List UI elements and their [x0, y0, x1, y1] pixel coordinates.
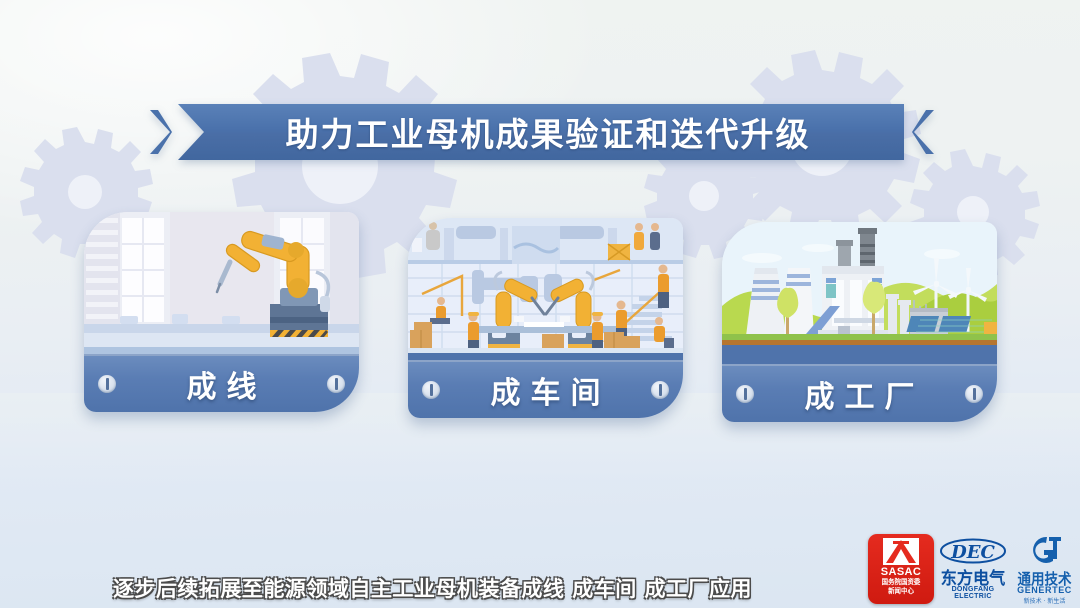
robot-arm-production-line-illustration: [84, 212, 359, 360]
sasac-cn-line2: 新闻中心: [888, 587, 914, 596]
slide-canvas: 助力工业母机成果验证和迭代升级: [0, 0, 1080, 608]
card-label-cheng-xian: 成线: [84, 354, 359, 412]
logo-bar: SASAC 国务院国资委 新闻中心 DEC 东方电气 DONGFANG ELEC…: [865, 530, 1080, 608]
card-label-text: 成车间: [481, 368, 611, 412]
svg-text:DEC: DEC: [950, 542, 995, 563]
card-cheng-che-jian[interactable]: 成车间: [408, 218, 683, 418]
dec-logo: DEC 东方电气 DONGFANG ELECTRIC: [937, 530, 1009, 608]
title-banner: 助力工业母机成果验证和迭代升级: [178, 104, 904, 160]
dec-ellipse-icon: DEC: [939, 538, 1007, 564]
card-label-cheng-gong-chang: 成工厂: [722, 364, 997, 422]
card-cheng-gong-chang[interactable]: 成工厂: [722, 222, 997, 422]
screw-icon: [965, 385, 983, 403]
green-energy-factory-illustration: [722, 222, 997, 370]
screw-icon: [651, 381, 669, 399]
chevron-left-icon: [912, 108, 938, 156]
sasac-emblem-icon: [883, 538, 919, 565]
card-label-text: 成工厂: [795, 372, 925, 416]
page-title: 助力工业母机成果验证和迭代升级: [178, 104, 904, 160]
card-cheng-xian[interactable]: 成线: [84, 212, 359, 412]
sasac-logo: SASAC 国务院国资委 新闻中心: [865, 530, 937, 608]
genertec-logo: 通用技术 GENERTEC 新技术 · 新生活: [1009, 530, 1080, 608]
chevron-right-icon: [146, 108, 172, 156]
genertec-gt-monogram-icon: [1023, 535, 1065, 569]
card-label-cheng-che-jian: 成车间: [408, 360, 683, 418]
sasac-cn-line1: 国务院国资委: [882, 578, 921, 587]
dec-en-text: DONGFANG ELECTRIC: [937, 586, 1009, 600]
sasac-en-text: SASAC: [881, 566, 922, 578]
screw-icon: [736, 385, 754, 403]
screw-icon: [327, 375, 345, 393]
screw-icon: [98, 375, 116, 393]
genertec-en-text: GENERTEC: [1009, 585, 1080, 595]
card-label-text: 成线: [177, 362, 267, 406]
screw-icon: [422, 381, 440, 399]
genertec-tagline: 新技术 · 新生活: [1009, 596, 1080, 605]
smart-workshop-illustration: [408, 218, 683, 366]
